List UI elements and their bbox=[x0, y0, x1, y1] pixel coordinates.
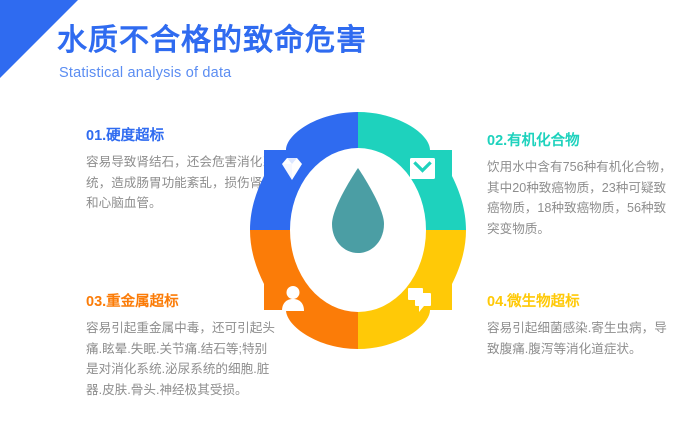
info-block-04: 04.微生物超标 容易引起细菌感染.寄生虫病，导致腹痛.腹泻等消化道症状。 bbox=[487, 294, 677, 359]
block-02-heading: 02.有机化合物 bbox=[487, 133, 677, 150]
block-02-body: 饮用水中含有756种有机化合物，其中20种致癌物质，23种可疑致癌物质，18种致… bbox=[487, 157, 677, 239]
block-04-body: 容易引起细菌感染.寄生虫病，导致腹痛.腹泻等消化道症状。 bbox=[487, 318, 677, 359]
page-subtitle: Statistical analysis of data bbox=[59, 65, 477, 81]
page-title: 水质不合格的致命危害 bbox=[57, 24, 477, 59]
envelope-icon bbox=[410, 158, 435, 179]
info-block-02: 02.有机化合物 饮用水中含有756种有机化合物，其中20种致癌物质，23种可疑… bbox=[487, 133, 677, 239]
block-04-heading: 04.微生物超标 bbox=[487, 294, 677, 311]
water-quality-donut bbox=[238, 108, 478, 353]
page-header: 水质不合格的致命危害 Statistical analysis of data bbox=[57, 24, 477, 81]
